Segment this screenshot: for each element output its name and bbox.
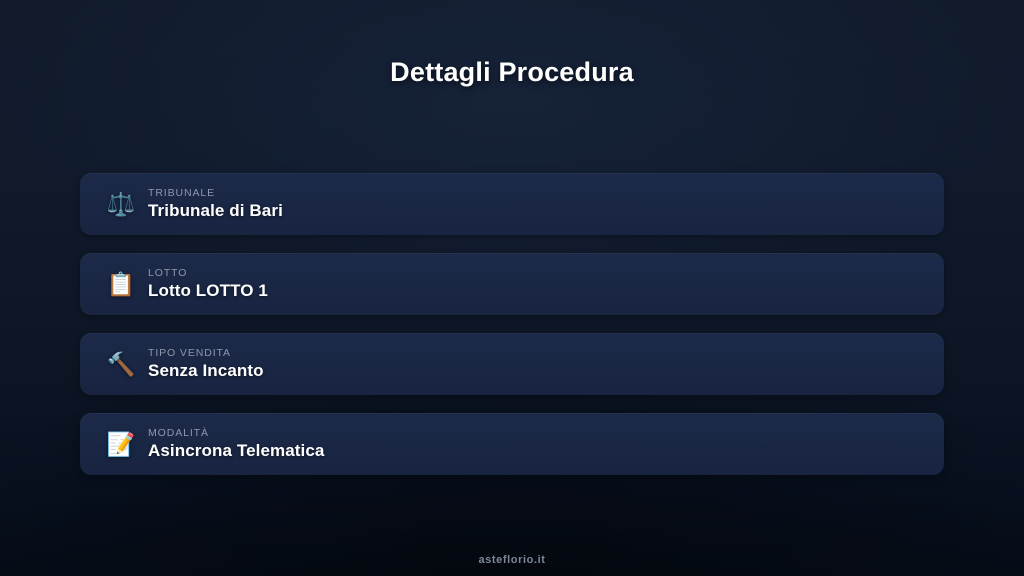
detail-card-modalita[interactable]: 📝 MODALITÀ Asincrona Telematica [80,413,944,475]
detail-card-text: TIPO VENDITA Senza Incanto [148,347,264,381]
detail-card-tribunale[interactable]: ⚖️ TRIBUNALE Tribunale di Bari [80,173,944,235]
page-title: Dettagli Procedura [0,57,1024,88]
detail-card-text: LOTTO Lotto LOTTO 1 [148,267,268,301]
detail-card-label: TIPO VENDITA [148,347,264,359]
detail-card-value: Senza Incanto [148,361,264,381]
procedure-details-page: Dettagli Procedura ⚖️ TRIBUNALE Tribunal… [0,0,1024,576]
balance-scale-icon: ⚖️ [104,193,138,216]
clipboard-icon: 📋 [104,273,138,296]
detail-card-list: ⚖️ TRIBUNALE Tribunale di Bari 📋 LOTTO L… [80,173,944,475]
detail-card-text: MODALITÀ Asincrona Telematica [148,427,324,461]
detail-card-value: Tribunale di Bari [148,201,283,221]
detail-card-text: TRIBUNALE Tribunale di Bari [148,187,283,221]
detail-card-lotto[interactable]: 📋 LOTTO Lotto LOTTO 1 [80,253,944,315]
detail-card-value: Lotto LOTTO 1 [148,281,268,301]
detail-card-value: Asincrona Telematica [148,441,324,461]
detail-card-label: TRIBUNALE [148,187,283,199]
footer-watermark: asteflorio.it [0,554,1024,566]
detail-card-label: MODALITÀ [148,427,324,439]
detail-card-label: LOTTO [148,267,268,279]
hammer-icon: 🔨 [104,353,138,376]
memo-icon: 📝 [104,433,138,456]
detail-card-tipo-vendita[interactable]: 🔨 TIPO VENDITA Senza Incanto [80,333,944,395]
